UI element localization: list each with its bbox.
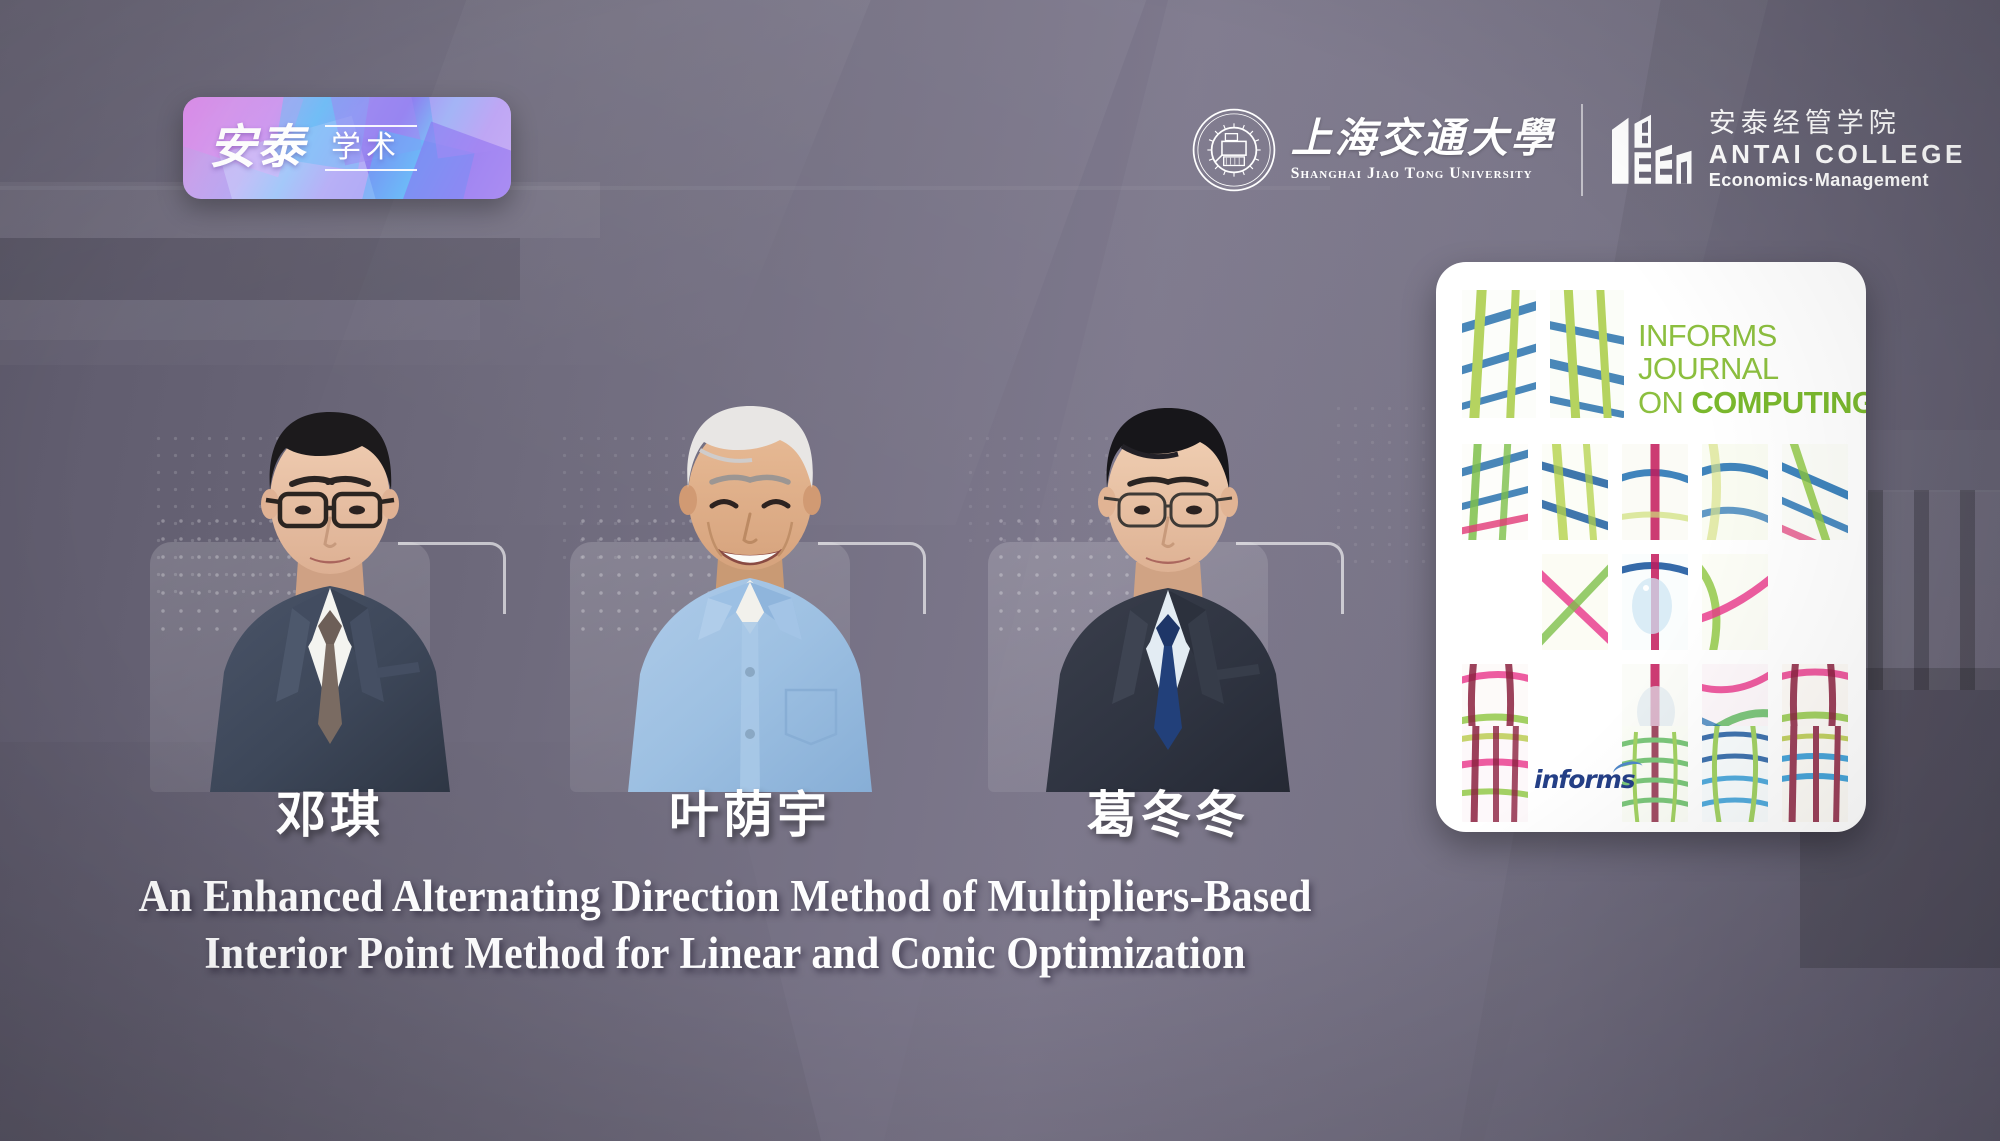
speaker-name: 邓琪: [150, 790, 510, 840]
cover-tile: [1550, 290, 1624, 418]
cover-tile: [1702, 444, 1768, 540]
cover-tile: [1462, 726, 1528, 822]
journal-title-line1: INFORMS JOURNAL: [1638, 320, 1866, 386]
acem-english-name: ANTAI COLLEGE: [1709, 139, 1966, 170]
journal-title-block: INFORMS JOURNAL ON COMPUTING: [1638, 320, 1866, 420]
portrait-deng-qi: [180, 372, 480, 792]
title-line-2: Interior Point Method for Linear and Con…: [107, 925, 1344, 982]
logo-divider: [1581, 104, 1583, 196]
acem-logo: 安泰经管学院 ANTAI COLLEGE Economics·Managemen…: [1609, 108, 1966, 191]
portrait-ge-dongdong: [1018, 372, 1318, 792]
journal-title-computing: COMPUTING: [1691, 385, 1866, 420]
cover-tile: [1542, 444, 1608, 540]
informs-logo: informs: [1534, 765, 1635, 794]
speaker-card: [988, 372, 1348, 792]
background-band: [0, 300, 480, 340]
acem-chinese-name: 安泰经管学院: [1709, 108, 1966, 138]
speaker-photo-row: [150, 372, 1350, 792]
university-seal-icon: [1191, 107, 1277, 193]
cover-tile: [1702, 726, 1768, 822]
cover-tile: [1462, 290, 1536, 418]
journal-masthead: INFORMS JOURNAL ON COMPUTING: [1462, 290, 1844, 418]
speaker-card: [150, 372, 510, 792]
cover-tile: [1622, 554, 1688, 650]
title-line-1: An Enhanced Alternating Direction Method…: [107, 868, 1344, 925]
cover-tile: [1622, 444, 1688, 540]
badge-main-text: 安泰: [209, 125, 305, 172]
cover-tile: [1542, 554, 1608, 650]
sjtu-english-name: Shanghai Jiao Tong University: [1291, 165, 1533, 183]
acem-english-sub: Economics·Management: [1709, 169, 1966, 192]
cover-tile: [1782, 726, 1848, 822]
cover-tile: [1702, 554, 1768, 650]
acem-mark-icon: [1609, 113, 1693, 187]
speaker-card: [570, 372, 930, 792]
journal-cover: INFORMS JOURNAL ON COMPUTING: [1436, 262, 1866, 832]
speaker-name: 叶荫宇: [570, 790, 930, 840]
poster-canvas: 安泰 学术: [0, 0, 2000, 1141]
sjtu-chinese-name: 上海交通大學: [1291, 117, 1555, 160]
badge-sub-text: 学术: [323, 123, 405, 173]
header-logos: 上海交通大學 Shanghai Jiao Tong University: [1191, 104, 1966, 196]
sjtu-logo: 上海交通大學 Shanghai Jiao Tong University: [1191, 107, 1555, 193]
antai-academic-badge: 安泰 学术: [183, 97, 511, 199]
background-band: [0, 238, 520, 300]
cover-tile: [1782, 444, 1848, 540]
journal-title-line2: ON COMPUTING: [1638, 386, 1866, 420]
speaker-name: 葛冬冬: [988, 790, 1348, 840]
speaker-names-row: 邓琪 叶荫宇 葛冬冬: [150, 790, 1350, 860]
cover-tile: [1462, 444, 1528, 540]
presentation-title: An Enhanced Alternating Direction Method…: [107, 868, 1344, 981]
journal-title-on: ON: [1638, 385, 1691, 420]
portrait-ye-yinyu: [600, 372, 900, 792]
